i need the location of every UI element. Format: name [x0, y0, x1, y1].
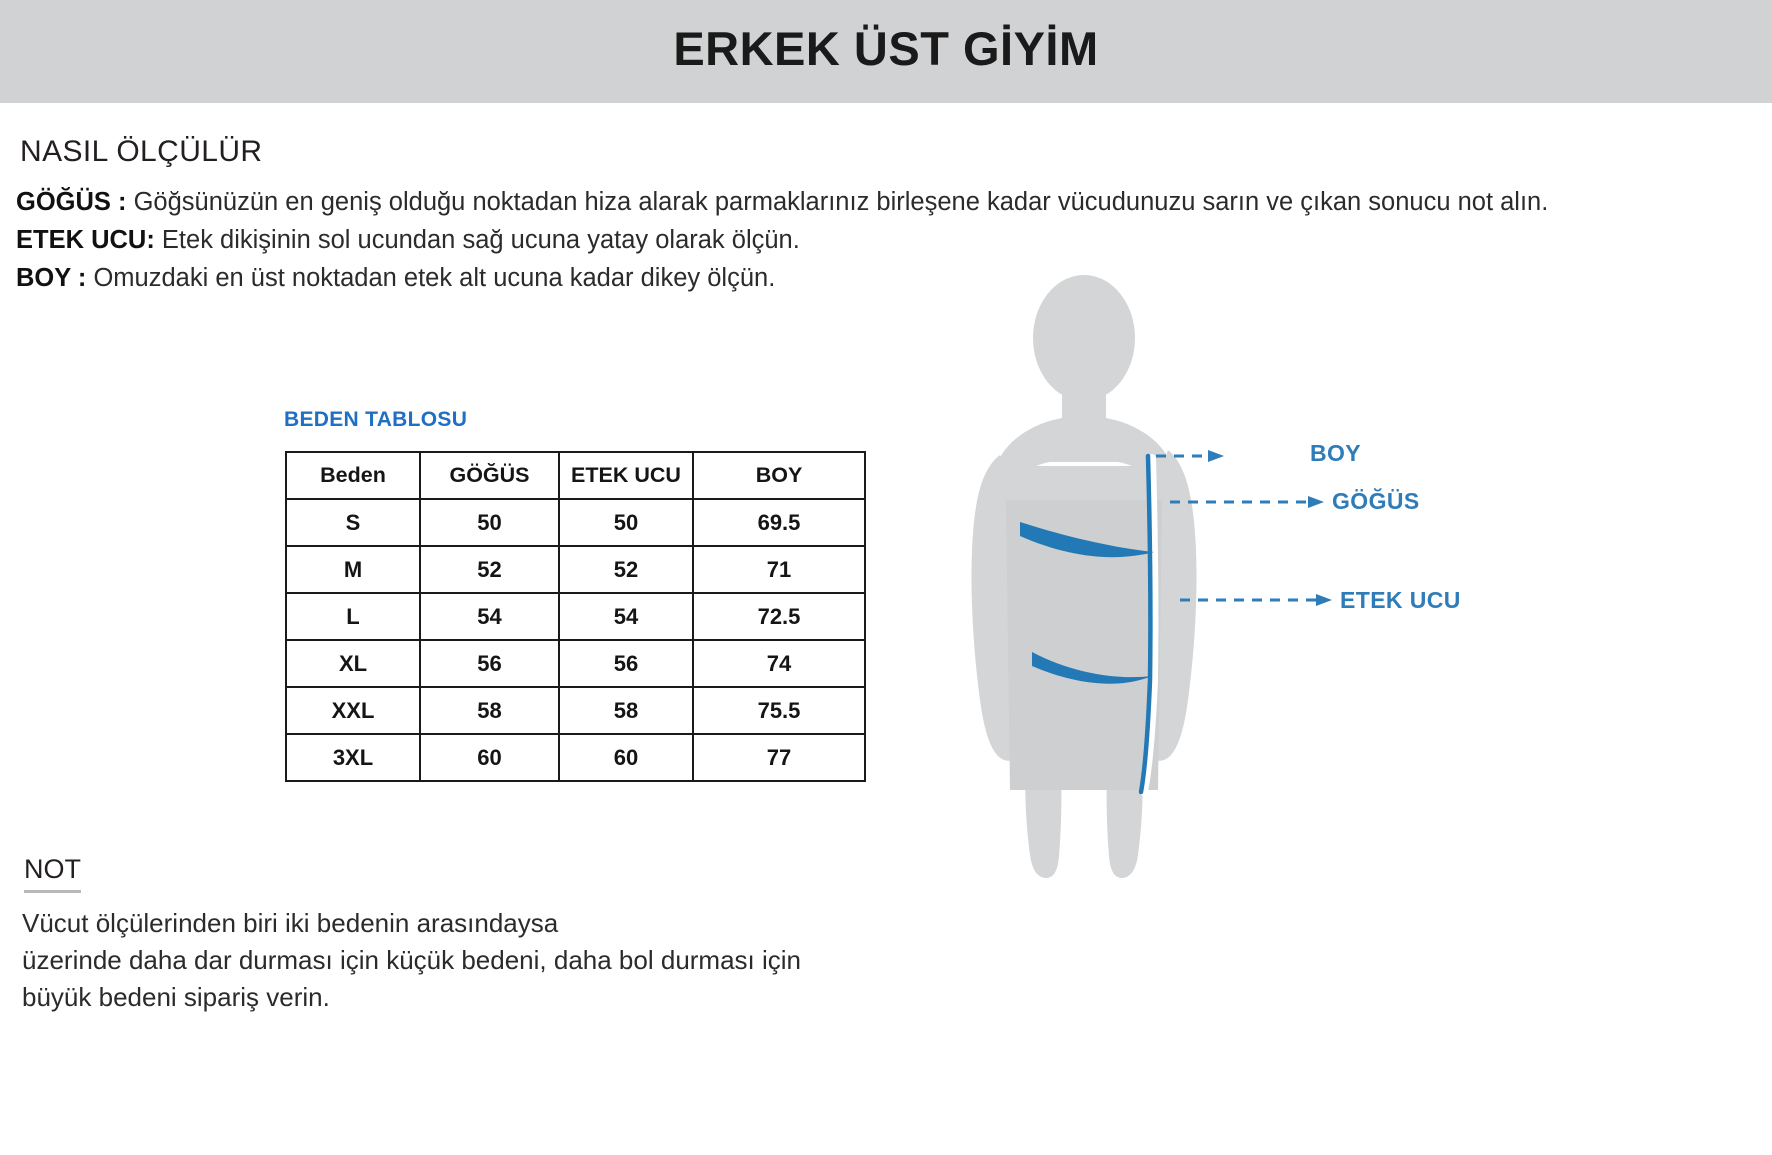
instruction-chest-term: GÖĞÜS : — [16, 188, 127, 216]
cell-hem: 54 — [559, 593, 693, 640]
table-row: L 54 54 72.5 — [286, 593, 865, 640]
cell-size: XXL — [286, 687, 420, 734]
etek-ucu-arrow-head — [1316, 594, 1332, 606]
cell-chest: 56 — [420, 640, 559, 687]
cell-length: 72.5 — [693, 593, 865, 640]
cell-hem: 50 — [559, 499, 693, 546]
instruction-hem-text: Etek dikişinin sol ucundan sağ ucuna yat… — [155, 226, 800, 254]
column-header-beden: Beden — [286, 452, 420, 499]
gogus-arrow-head — [1308, 496, 1324, 508]
cell-length: 75.5 — [693, 687, 865, 734]
cell-size: L — [286, 593, 420, 640]
size-table-label: BEDEN TABLOSU — [284, 408, 467, 432]
size-table: Beden GÖĞÜS ETEK UCU BOY S 50 50 69.5 M … — [285, 451, 866, 782]
cell-hem: 52 — [559, 546, 693, 593]
boy-arrow-head — [1208, 450, 1224, 462]
cell-hem: 58 — [559, 687, 693, 734]
instruction-length: BOY : Omuzdaki en üst noktadan etek alt … — [16, 263, 775, 295]
cell-hem: 60 — [559, 734, 693, 781]
cell-length: 71 — [693, 546, 865, 593]
instruction-chest: GÖĞÜS : Göğsünüzün en geniş olduğu nokta… — [16, 187, 1548, 219]
cell-length: 69.5 — [693, 499, 865, 546]
instruction-chest-text: Göğsünüzün en geniş olduğu noktadan hiza… — [127, 188, 1549, 216]
instruction-hem: ETEK UCU: Etek dikişinin sol ucundan sağ… — [16, 225, 800, 257]
cell-length: 77 — [693, 734, 865, 781]
head-shape — [1033, 275, 1135, 401]
page-title: ERKEK ÜST GİYİM — [0, 0, 1772, 103]
table-row: XL 56 56 74 — [286, 640, 865, 687]
column-header-gogus: GÖĞÜS — [420, 452, 559, 499]
cell-size: 3XL — [286, 734, 420, 781]
table-body: S 50 50 69.5 M 52 52 71 L 54 54 72.5 XL … — [286, 499, 865, 781]
note-body: Vücut ölçülerinden biri iki bedenin aras… — [22, 905, 801, 1016]
body-silhouette-svg — [940, 270, 1540, 890]
instruction-length-term: BOY : — [16, 264, 86, 292]
instruction-length-text: Omuzdaki en üst noktadan etek alt ucuna … — [86, 264, 775, 292]
cell-size: S — [286, 499, 420, 546]
diagram-label-etek-ucu: ETEK UCU — [1340, 587, 1461, 614]
cell-size: M — [286, 546, 420, 593]
how-to-measure-title: NASIL ÖLÇÜLÜR — [20, 135, 263, 169]
note-title: NOT — [24, 855, 81, 893]
diagram-label-gogus: GÖĞÜS — [1332, 488, 1420, 515]
cell-chest: 54 — [420, 593, 559, 640]
table-row: 3XL 60 60 77 — [286, 734, 865, 781]
cell-hem: 56 — [559, 640, 693, 687]
column-header-boy: BOY — [693, 452, 865, 499]
cell-chest: 58 — [420, 687, 559, 734]
cell-chest: 52 — [420, 546, 559, 593]
cell-chest: 60 — [420, 734, 559, 781]
column-header-etek-ucu: ETEK UCU — [559, 452, 693, 499]
table-row: S 50 50 69.5 — [286, 499, 865, 546]
diagram-label-boy: BOY — [1310, 440, 1361, 467]
cell-chest: 50 — [420, 499, 559, 546]
measurement-diagram: BOY GÖĞÜS ETEK UCU — [940, 270, 1540, 890]
table-row: XXL 58 58 75.5 — [286, 687, 865, 734]
cell-size: XL — [286, 640, 420, 687]
instruction-hem-term: ETEK UCU: — [16, 226, 155, 254]
table-row: M 52 52 71 — [286, 546, 865, 593]
table-header-row: Beden GÖĞÜS ETEK UCU BOY — [286, 452, 865, 499]
cell-length: 74 — [693, 640, 865, 687]
